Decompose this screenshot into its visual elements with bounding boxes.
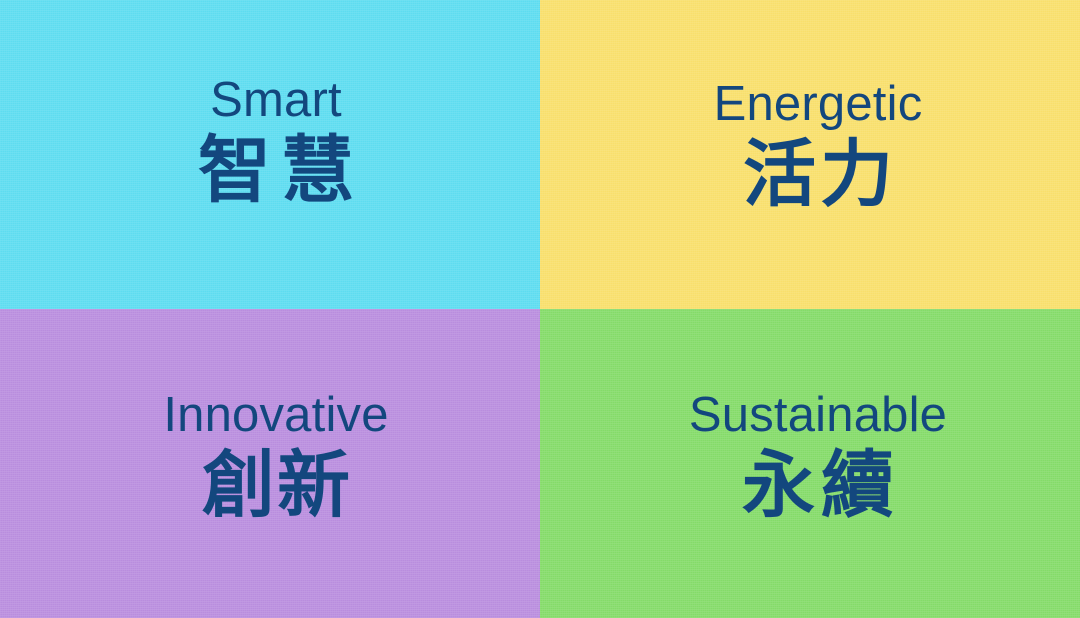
value-label-chinese-innovative: 創新 [200,448,352,525]
value-cell-sustainable: Sustainable 永續 [540,309,1080,618]
value-cell-smart: Smart 智慧 [0,0,540,309]
value-textblock-energetic: Energetic 活力 [714,80,923,214]
value-grid: Smart 智慧 Energetic 活力 Innovative 創新 Sust… [0,0,1080,618]
value-label-english-sustainable: Sustainable [689,391,947,440]
value-textblock-innovative: Innovative 創新 [163,391,388,525]
value-textblock-sustainable: Sustainable 永續 [689,391,947,525]
value-label-english-energetic: Energetic [714,80,923,129]
value-label-english-innovative: Innovative [163,391,388,440]
value-label-chinese-sustainable: 永續 [736,448,900,525]
value-textblock-smart: Smart 智慧 [188,76,364,210]
value-cell-energetic: Energetic 活力 [540,0,1080,309]
value-cell-innovative: Innovative 創新 [0,309,540,618]
value-label-chinese-energetic: 活力 [739,137,897,214]
value-label-english-smart: Smart [210,76,342,125]
value-label-chinese-smart: 智慧 [188,133,364,210]
